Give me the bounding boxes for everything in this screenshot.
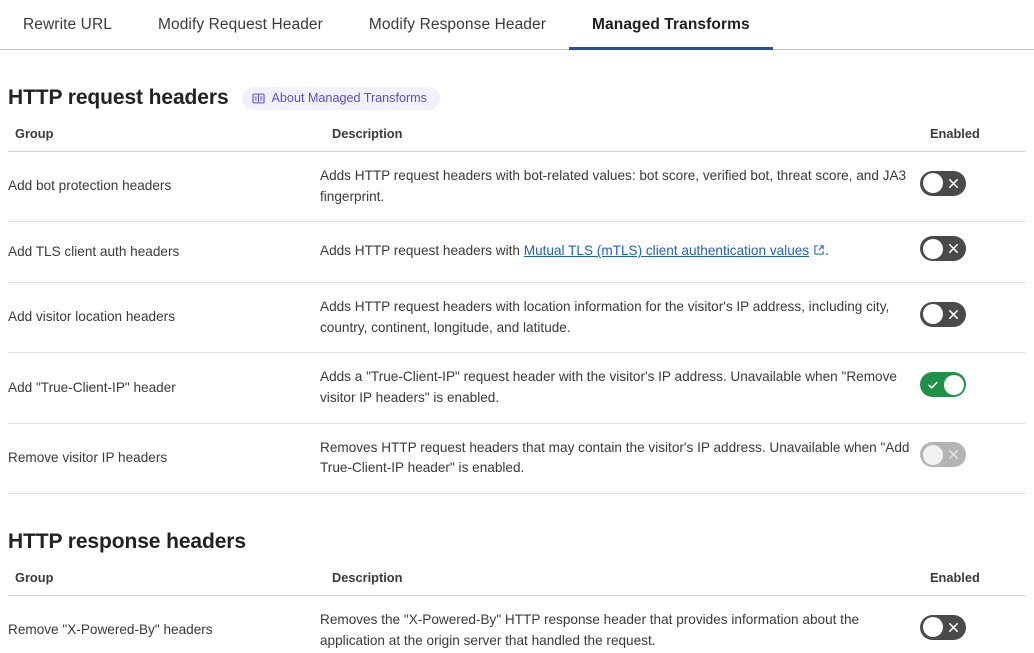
row-enabled-cell	[920, 595, 1026, 653]
close-icon	[947, 236, 959, 261]
row-enabled-cell	[920, 353, 1026, 423]
response-headers-table: Group Description Enabled Remove "X-Powe…	[8, 570, 1026, 653]
http-request-headers-section: HTTP request headers About Managed Trans…	[0, 86, 1034, 494]
toggle-remove-x-powered-by-headers[interactable]	[920, 615, 966, 640]
table-row: Add visitor location headers Adds HTTP r…	[8, 282, 1026, 352]
toggle-knob	[923, 445, 943, 465]
column-header-enabled: Enabled	[920, 126, 1026, 152]
tab-bar: Rewrite URL Modify Request Header Modify…	[0, 0, 1034, 50]
row-description: Adds HTTP request headers with bot-relat…	[320, 152, 920, 222]
mtls-client-auth-link[interactable]: Mutual TLS (mTLS) client authentication …	[524, 243, 809, 258]
http-response-headers-section: HTTP response headers Group Description …	[0, 530, 1034, 653]
row-enabled-cell	[920, 423, 1026, 493]
tab-modify-response-header[interactable]: Modify Response Header	[346, 0, 569, 50]
close-icon	[947, 171, 959, 196]
toggle-add-bot-protection-headers[interactable]	[920, 171, 966, 196]
toggle-knob	[923, 304, 943, 324]
row-description: Removes the "X-Powered-By" HTTP response…	[320, 595, 920, 653]
request-section-title: HTTP request headers	[8, 86, 229, 110]
row-enabled-cell	[920, 222, 1026, 283]
table-row: Remove "X-Powered-By" headers Removes th…	[8, 595, 1026, 653]
table-row: Add "True-Client-IP" header Adds a "True…	[8, 353, 1026, 423]
book-icon	[252, 92, 265, 105]
close-icon	[947, 302, 959, 327]
column-header-enabled: Enabled	[920, 570, 1026, 596]
row-group-label: Add bot protection headers	[8, 152, 320, 222]
toggle-remove-visitor-ip-headers	[920, 442, 966, 467]
row-group-label: Remove "X-Powered-By" headers	[8, 595, 320, 653]
row-group-label: Add "True-Client-IP" header	[8, 353, 320, 423]
close-icon	[947, 615, 959, 640]
toggle-knob	[923, 617, 943, 637]
row-enabled-cell	[920, 282, 1026, 352]
check-icon	[927, 372, 939, 397]
about-badge-label: About Managed Transforms	[272, 92, 427, 105]
column-header-description: Description	[320, 570, 920, 596]
toggle-add-tls-client-auth-headers[interactable]	[920, 236, 966, 261]
response-section-title: HTTP response headers	[8, 530, 246, 554]
row-description: Adds a "True-Client-IP" request header w…	[320, 353, 920, 423]
column-header-group: Group	[8, 126, 320, 152]
row-description: Removes HTTP request headers that may co…	[320, 423, 920, 493]
row-group-label: Add TLS client auth headers	[8, 222, 320, 283]
toggle-knob	[944, 375, 964, 395]
row-description: Adds HTTP request headers with Mutual TL…	[320, 222, 920, 283]
close-icon	[947, 442, 959, 467]
toggle-knob	[923, 173, 943, 193]
column-header-description: Description	[320, 126, 920, 152]
row-group-label: Add visitor location headers	[8, 282, 320, 352]
table-row: Remove visitor IP headers Removes HTTP r…	[8, 423, 1026, 493]
column-header-group: Group	[8, 570, 320, 596]
request-section-header: HTTP request headers About Managed Trans…	[8, 86, 1026, 110]
table-row: Add bot protection headers Adds HTTP req…	[8, 152, 1026, 222]
table-header-row: Group Description Enabled	[8, 126, 1026, 152]
row-enabled-cell	[920, 152, 1026, 222]
tab-rewrite-url[interactable]: Rewrite URL	[0, 0, 135, 50]
description-text-before: Adds HTTP request headers with	[320, 243, 524, 258]
table-row: Add TLS client auth headers Adds HTTP re…	[8, 222, 1026, 283]
toggle-add-true-client-ip-header[interactable]	[920, 372, 966, 397]
toggle-add-visitor-location-headers[interactable]	[920, 302, 966, 327]
row-description: Adds HTTP request headers with location …	[320, 282, 920, 352]
tab-modify-request-header[interactable]: Modify Request Header	[135, 0, 346, 50]
request-headers-table: Group Description Enabled Add bot protec…	[8, 126, 1026, 494]
description-text-after: .	[825, 243, 829, 258]
toggle-knob	[923, 239, 943, 259]
table-header-row: Group Description Enabled	[8, 570, 1026, 596]
about-managed-transforms-badge[interactable]: About Managed Transforms	[242, 87, 440, 110]
tab-managed-transforms[interactable]: Managed Transforms	[569, 0, 773, 50]
response-section-header: HTTP response headers	[8, 530, 1026, 554]
row-group-label: Remove visitor IP headers	[8, 423, 320, 493]
external-link-icon[interactable]	[813, 242, 825, 263]
